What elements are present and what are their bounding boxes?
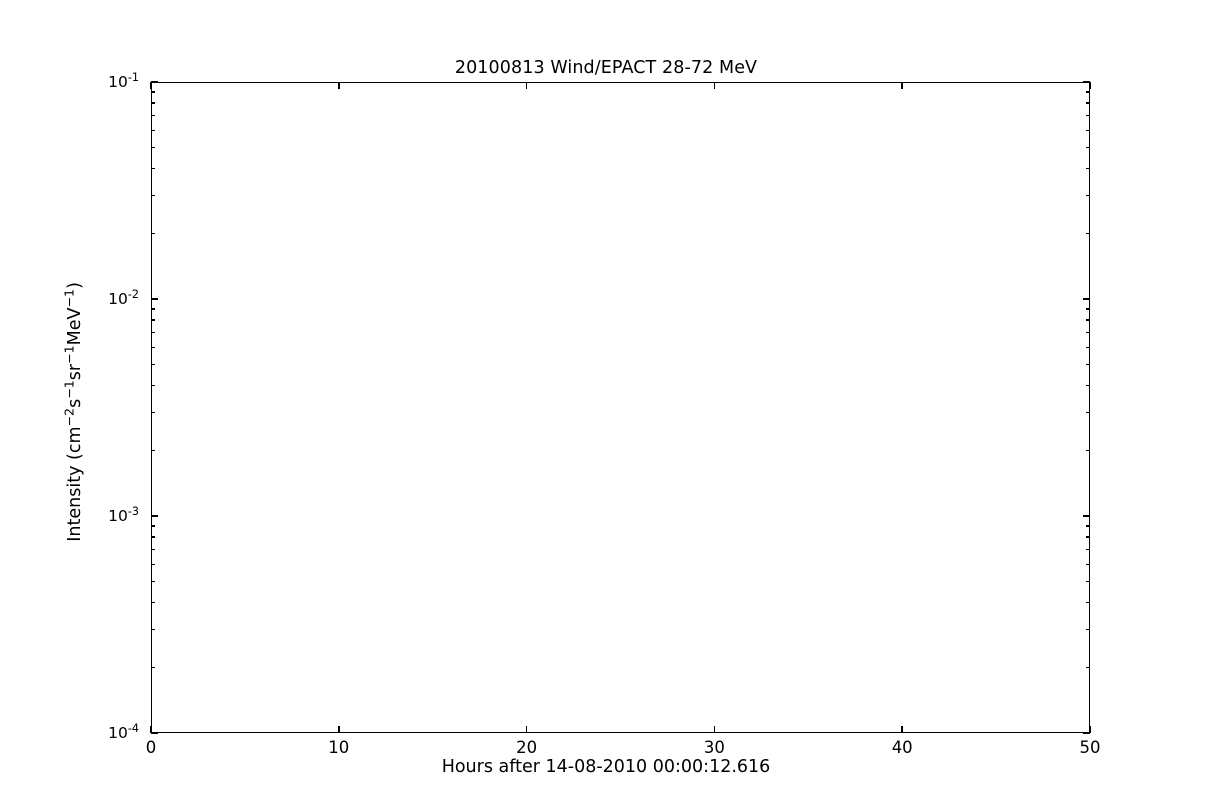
x-tick-major: [714, 726, 716, 733]
y-tick-minor: [151, 581, 155, 582]
axes-frame: [151, 82, 1090, 733]
y-tick-minor: [151, 364, 155, 365]
y-tick-minor: [151, 115, 155, 116]
y-tick-minor: [151, 629, 155, 630]
y-tick-minor: [1086, 115, 1090, 116]
y-tick-minor: [1086, 308, 1090, 309]
y-tick-minor: [1086, 332, 1090, 333]
x-tick-major: [338, 82, 340, 89]
x-tick-major: [526, 82, 528, 89]
y-tick-minor: [1086, 102, 1090, 103]
y-tick-minor: [1086, 195, 1090, 196]
y-tick-minor: [1086, 450, 1090, 451]
y-tick-label: 10-2: [79, 288, 139, 308]
y-tick-minor: [1086, 549, 1090, 550]
y-tick-minor: [151, 195, 155, 196]
x-tick-major: [526, 726, 528, 733]
y-tick-minor: [1086, 233, 1090, 234]
x-tick-major: [150, 726, 152, 733]
x-tick-label: 20: [497, 738, 557, 757]
x-tick-major: [901, 726, 903, 733]
y-tick-minor: [1086, 364, 1090, 365]
x-tick-major: [714, 82, 716, 89]
y-tick-major: [151, 298, 158, 300]
x-tick-major: [150, 82, 152, 89]
y-tick-minor: [1086, 536, 1090, 537]
y-tick-minor: [151, 602, 155, 603]
x-tick-label: 30: [684, 738, 744, 757]
y-tick-minor: [1086, 168, 1090, 169]
y-tick-minor: [1086, 564, 1090, 565]
y-tick-minor: [1086, 602, 1090, 603]
y-tick-minor: [151, 525, 155, 526]
y-tick-minor: [151, 91, 155, 92]
y-tick-minor: [151, 102, 155, 103]
y-tick-minor: [151, 308, 155, 309]
figure-canvas: 20100813 Wind/EPACT 28-72 MeV Intensity …: [0, 0, 1212, 812]
y-tick-minor: [151, 233, 155, 234]
y-tick-major: [151, 732, 158, 734]
y-tick-minor: [151, 319, 155, 320]
x-tick-major: [901, 82, 903, 89]
y-tick-minor: [151, 549, 155, 550]
x-tick-label: 40: [872, 738, 932, 757]
y-tick-major: [151, 515, 158, 517]
x-tick-major: [1089, 82, 1091, 89]
y-tick-minor: [151, 332, 155, 333]
y-tick-minor: [1086, 525, 1090, 526]
y-tick-major: [1083, 515, 1090, 517]
y-tick-minor: [151, 347, 155, 348]
y-tick-major: [1083, 298, 1090, 300]
y-tick-minor: [1086, 319, 1090, 320]
y-tick-minor: [151, 667, 155, 668]
x-tick-major: [1089, 726, 1091, 733]
y-tick-minor: [151, 130, 155, 131]
x-tick-label: 10: [309, 738, 369, 757]
y-tick-label: 10-3: [79, 505, 139, 525]
chart-title: 20100813 Wind/EPACT 28-72 MeV: [0, 58, 1212, 78]
y-axis-label: Intensity (cm−2s−1sr−1MeV−1): [61, 92, 85, 732]
y-tick-minor: [151, 147, 155, 148]
y-tick-minor: [151, 450, 155, 451]
y-tick-minor: [1086, 412, 1090, 413]
x-tick-major: [338, 726, 340, 733]
y-tick-major: [151, 81, 158, 83]
y-tick-label: 10-1: [79, 71, 139, 91]
y-tick-minor: [151, 536, 155, 537]
y-tick-minor: [1086, 347, 1090, 348]
y-tick-minor: [1086, 130, 1090, 131]
x-tick-label: 0: [121, 738, 181, 757]
y-tick-minor: [1086, 385, 1090, 386]
y-tick-minor: [151, 168, 155, 169]
y-tick-minor: [151, 385, 155, 386]
y-tick-minor: [151, 412, 155, 413]
x-axis-label: Hours after 14-08-2010 00:00:12.616: [0, 757, 1212, 777]
y-tick-minor: [1086, 581, 1090, 582]
y-tick-minor: [1086, 147, 1090, 148]
y-tick-minor: [1086, 91, 1090, 92]
y-tick-minor: [1086, 629, 1090, 630]
y-axis-label-text: Intensity (cm−2s−1sr−1MeV−1): [65, 282, 85, 542]
y-tick-minor: [1086, 667, 1090, 668]
y-tick-minor: [151, 564, 155, 565]
x-tick-label: 50: [1060, 738, 1120, 757]
